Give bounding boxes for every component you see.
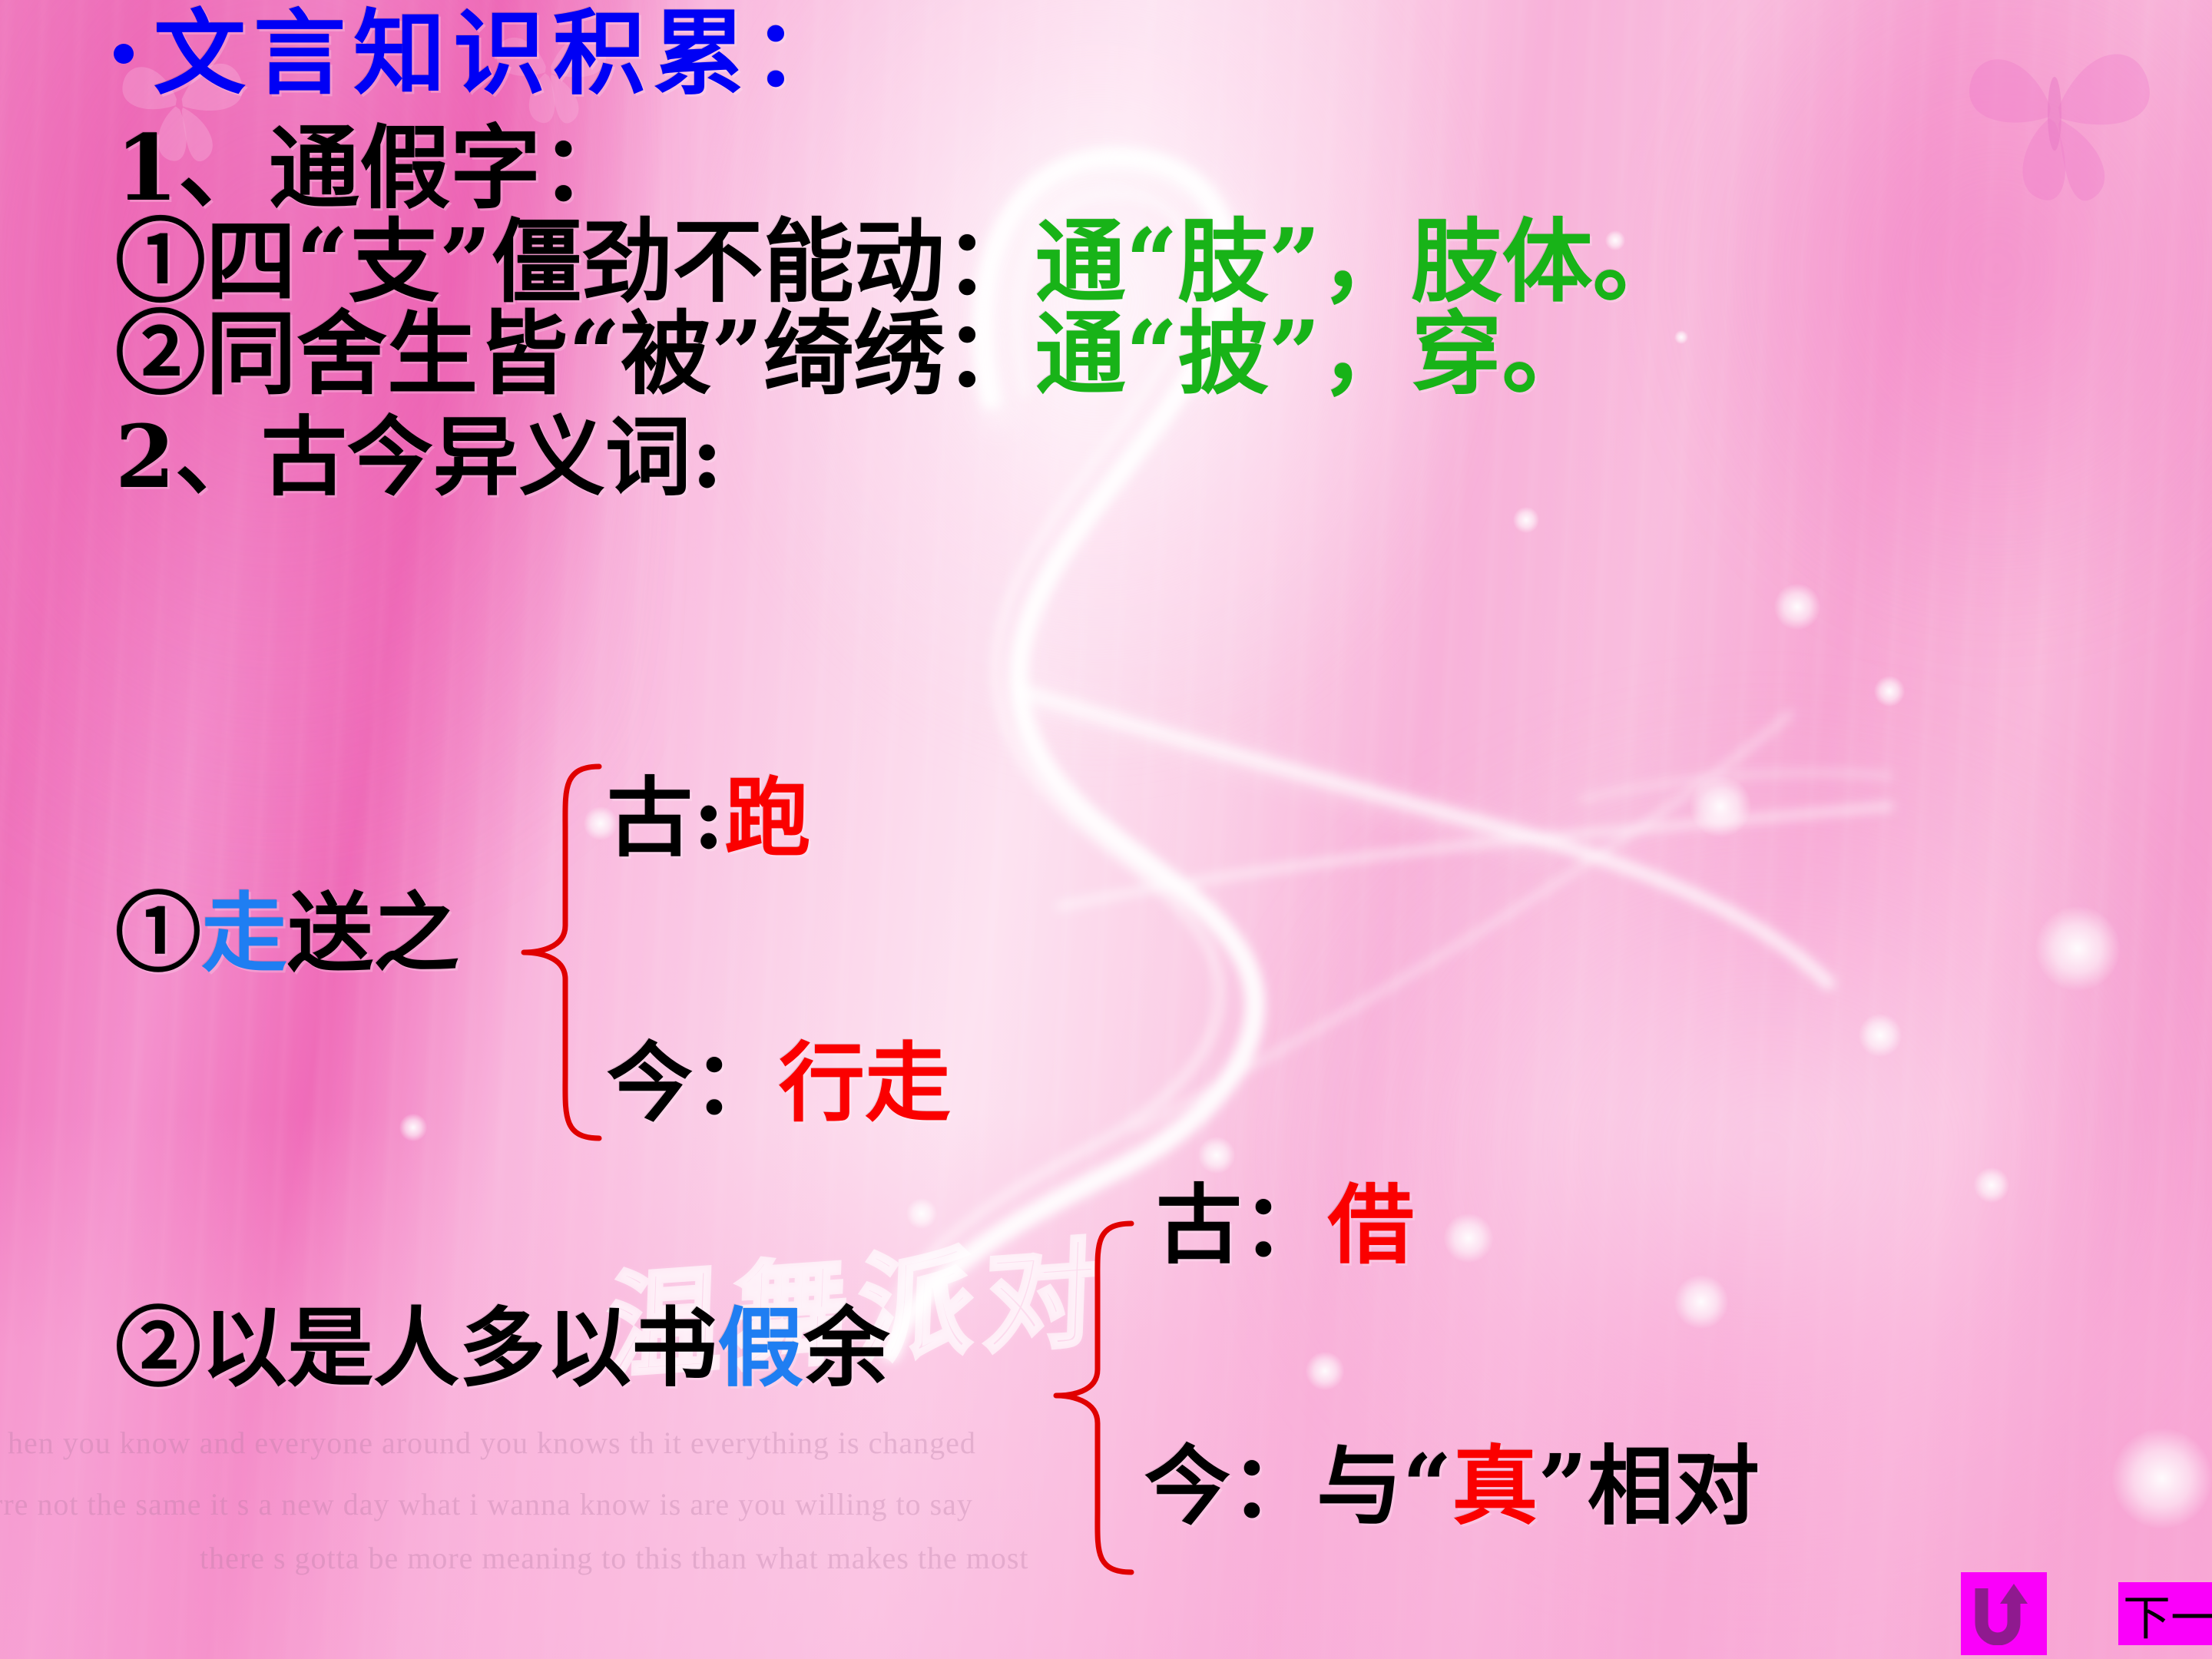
tongjiazi-item-2: ②同舍生皆“被”绮绣：通“披”，穿。 [115,309,1593,399]
item-prefix: 以是人多以书 [201,1298,717,1399]
gujinyiyi-item-1: ①走送之 [115,891,459,977]
gujinyiyi-1-modern: 今：行走 [607,1041,951,1127]
section-heading-gujinyiyi: 2、古今异义词: [115,415,723,501]
page-title-text: 文言知识积累： [154,0,853,108]
item-marker: ② [115,300,206,407]
u-turn-arrow-icon [1974,1582,2034,1645]
gujinyiyi-item-2: ②以是人多以书假余 [115,1306,889,1392]
item-explanation: 通“肢”，肢体。 [1035,208,1684,315]
modern-label: 今： [607,1033,779,1134]
item-rest: 余 [803,1298,889,1399]
butterfly-icon [1936,15,2189,207]
ancient-value: 跑 [724,768,810,869]
keyword: 走 [201,883,287,984]
curly-brace-2 [1041,1217,1148,1578]
item-marker: ① [115,208,206,315]
next-page-label: 下一页 [2123,1582,2212,1645]
item-marker: ② [115,1298,201,1399]
ancient-label: 古： [1156,1175,1328,1276]
item-sentence: 同舍生皆“被”绮绣： [206,300,1035,407]
watermark-english-line3: there s gotta be more meaning to this th… [200,1540,1029,1576]
item-rest: 送之 [287,883,459,984]
bullet-dot-icon [114,44,134,64]
item-sentence: 四“支”僵劲不能动： [206,208,1035,315]
ancient-label: 古: [607,768,724,869]
page-title: 文言知识积累： [114,8,853,100]
item-explanation: 通“披”，穿。 [1035,300,1593,407]
curly-brace-1 [507,760,614,1144]
modern-prefix: 与“ [1316,1436,1452,1537]
tongjiazi-item-1: ①四“支”僵劲不能动：通“肢”，肢体。 [115,217,1684,307]
gujinyiyi-1-ancient: 古:跑 [607,776,810,862]
item-marker: ① [115,883,201,984]
section-heading-tongjiazi: 1、通假字： [115,123,631,214]
modern-suffix: ”相对 [1538,1436,1759,1537]
watermark-english-line1: hen you know and everyone around you kno… [8,1425,976,1461]
modern-value: 行走 [779,1033,951,1134]
ancient-value: 借 [1328,1175,1414,1276]
presentation-slide: 温舞派对 hen you know and everyone around yo… [0,0,2212,1659]
gujinyiyi-2-modern: 今：与“真”相对 [1144,1444,1760,1530]
gujinyiyi-2-ancient: 古：借 [1156,1183,1414,1269]
keyword: 假 [717,1298,803,1399]
back-navigation-button[interactable] [1961,1572,2047,1655]
modern-label: 今： [1144,1436,1316,1537]
watermark-english-line2: rre not the same it s a new day what i w… [0,1486,973,1522]
modern-highlight: 真 [1452,1436,1538,1537]
next-page-button[interactable]: 下一页 [2118,1582,2212,1645]
